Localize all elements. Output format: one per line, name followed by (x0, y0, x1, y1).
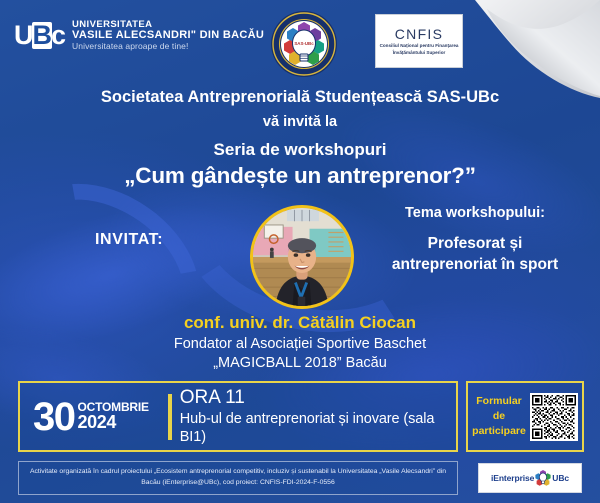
event-year: 2024 (78, 413, 149, 432)
event-place: ORA 11 Hub-ul de antreprenoriat și inova… (172, 386, 456, 447)
footer-disclaimer-text: Activitate organizată în cadrul proiectu… (19, 467, 457, 488)
speaker-photo (253, 208, 351, 306)
event-day: 30 (33, 398, 75, 436)
speaker-name: conf. univ. dr. Cătălin Ciocan (0, 313, 600, 333)
workshop-theme-line2: antreprenoriat în sport (350, 256, 600, 274)
speaker-role-line1: Fondator al Asociației Sportive Baschet (0, 336, 600, 352)
event-month-year: OCTOMBRIE 2024 (78, 401, 149, 432)
workshop-series-title: „Cum gândește un antreprenor?” (0, 163, 600, 189)
event-hour: ORA 11 (180, 386, 456, 410)
ubc-logo-line2: VASILE ALECSANDRI" DIN BACĂU (72, 30, 264, 42)
speaker-avatar (250, 205, 354, 309)
event-date: 30 OCTOMBRIE 2024 (20, 398, 168, 436)
event-details-box: 30 OCTOMBRIE 2024 ORA 11 Hub-ul de antre… (18, 381, 458, 452)
workshop-series-label: Seria de workshopuri (0, 140, 600, 160)
cnfis-logo-title: CNFIS (395, 26, 444, 42)
registration-label-line2: de (472, 409, 526, 424)
ubc-logomark-c: c (51, 20, 65, 50)
registration-form-box[interactable]: Formular de participare (466, 381, 584, 452)
qr-code-icon[interactable] (530, 393, 578, 441)
workshop-theme-label: Tema workshopului: (350, 205, 600, 221)
ienterprise-lightbulb-icon (535, 469, 551, 487)
cnfis-logo: CNFIS Consiliul Național pentru Finanțar… (375, 14, 463, 68)
sas-ubc-lightbulb-logo-icon: SAS-UBc (268, 9, 340, 79)
ubc-logo-text: UNIVERSITATEA VASILE ALECSANDRI" DIN BAC… (72, 20, 264, 51)
footer-disclaimer-box: Activitate organizată în cadrul proiectu… (18, 461, 458, 495)
ubc-logo-tagline: Universitatea aproape de tine! (72, 42, 264, 51)
ienterprise-logo-part2: UBc (552, 473, 569, 483)
cnfis-logo-subtitle: Consiliul Național pentru Finanțarea Înv… (376, 43, 462, 55)
registration-label-line3: participare (472, 424, 526, 439)
invitation-line: vă invită la (0, 114, 600, 130)
registration-form-label: Formular de participare (472, 394, 526, 440)
ienterprise-ubc-logo: iEnterprise UBc (478, 463, 582, 493)
svg-text:SAS-UBc: SAS-UBc (294, 41, 314, 46)
ienterprise-logo-part1: iEnterprise (491, 473, 534, 483)
registration-label-line1: Formular (472, 394, 526, 409)
ubc-university-logo: UBc UNIVERSITATEA VASILE ALECSANDRI" DIN… (14, 20, 264, 51)
ubc-logomark-u: U (14, 20, 33, 50)
workshop-theme-line1: Profesorat și (350, 235, 600, 253)
speaker-role-line2: „MAGICBALL 2018” Bacău (0, 355, 600, 371)
event-poster: UBc UNIVERSITATEA VASILE ALECSANDRI" DIN… (0, 0, 600, 503)
invited-label: INVITAT: (95, 231, 163, 249)
page-title-society: Societatea Antreprenorială Studențească … (0, 88, 600, 107)
ubc-logomark: UBc (14, 22, 65, 49)
event-location: Hub-ul de antreprenoriat și inovare (sal… (180, 410, 456, 448)
poster-header: UBc UNIVERSITATEA VASILE ALECSANDRI" DIN… (0, 0, 600, 80)
ubc-logomark-b: B (32, 22, 53, 49)
